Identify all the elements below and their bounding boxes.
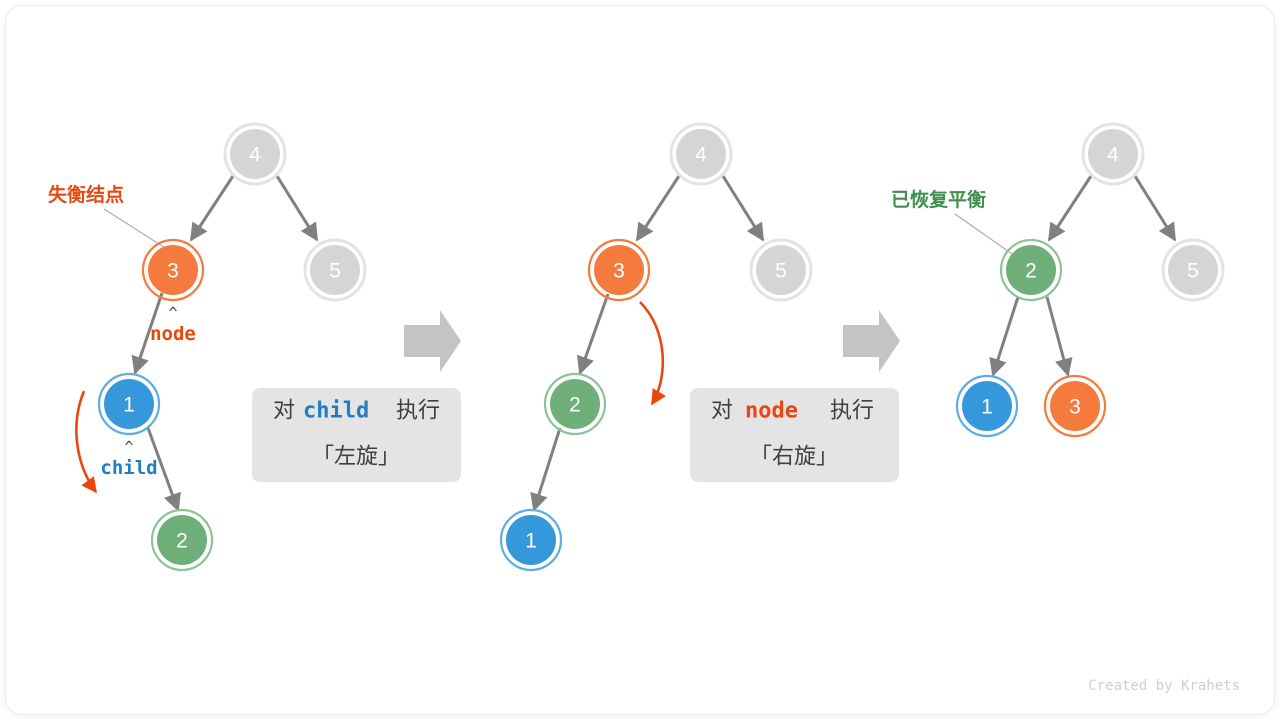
pointer-label-node: node xyxy=(150,323,196,345)
edge-4-5 xyxy=(277,176,317,240)
tree-node-label: 3 xyxy=(1069,396,1081,419)
tree-node-5[interactable]: 5 xyxy=(305,240,365,300)
tree-node-4[interactable]: 4 xyxy=(671,124,731,184)
edge-2-1 xyxy=(993,297,1018,375)
tree-node-label: 3 xyxy=(167,260,179,283)
tree-node-5[interactable]: 5 xyxy=(751,240,811,300)
step-box-line2: 「左旋」 xyxy=(312,445,400,470)
step-box-line1-suffix: 执行 xyxy=(830,399,874,424)
tree-node-label: 2 xyxy=(569,394,581,417)
edge-2-3 xyxy=(1047,297,1068,375)
step-box-line1-code: node xyxy=(745,399,798,424)
step-box-line1-prefix: 对 xyxy=(711,399,733,424)
tree-node-2[interactable]: 2 xyxy=(152,510,212,570)
step-box-right-rotate: 对 node 执行 「右旋」 xyxy=(690,388,899,482)
edge-4-5 xyxy=(1135,176,1175,240)
annotation-balanced: 已恢复平衡 xyxy=(891,188,986,211)
node-caret-icon: ^ xyxy=(168,304,177,322)
tree-node-2[interactable]: 2 xyxy=(545,374,605,434)
edge-4-5 xyxy=(723,176,763,240)
child-caret-icon: ^ xyxy=(124,438,133,456)
step-box-line2: 「右旋」 xyxy=(750,445,838,470)
panel-after-right-rotate: 4 2 5 1 3 已恢复平衡 xyxy=(891,124,1223,436)
tree-node-label: 1 xyxy=(525,530,537,553)
edge-4-3 xyxy=(637,176,679,240)
tree-node-label: 3 xyxy=(613,260,625,283)
tree-node-label: 5 xyxy=(775,260,787,283)
tree-node-3[interactable]: 3 xyxy=(589,240,649,300)
rotation-curve-arrow-2 xyxy=(640,302,663,404)
tree-node-3[interactable]: 3 xyxy=(143,240,203,300)
edge-3-2 xyxy=(580,294,608,373)
tree-node-2[interactable]: 2 xyxy=(1001,240,1061,300)
panel-before: 4 3 5 1 2 xyxy=(48,124,365,570)
edge-4-2 xyxy=(1049,176,1091,240)
tree-node-4[interactable]: 4 xyxy=(1083,124,1143,184)
tree-node-label: 4 xyxy=(249,144,261,167)
step-box-left-rotate: 对 child 执行 「左旋」 xyxy=(252,388,461,482)
edge-4-3 xyxy=(191,176,233,240)
tree-node-1[interactable]: 1 xyxy=(99,374,159,434)
tree-node-1[interactable]: 1 xyxy=(501,510,561,570)
step-box-line1-suffix: 执行 xyxy=(396,399,440,424)
tree-node-label: 4 xyxy=(695,144,707,167)
tree-node-4[interactable]: 4 xyxy=(225,124,285,184)
diagram-canvas: 4 3 5 1 2 xyxy=(0,0,1280,720)
step-box-line1-code: child xyxy=(303,399,369,424)
tree-node-label: 1 xyxy=(981,396,993,419)
tree-node-label: 5 xyxy=(1187,260,1199,283)
edge-2-1 xyxy=(534,428,560,510)
block-arrow-right-icon xyxy=(404,310,461,372)
leader-line-balanced xyxy=(955,214,1015,256)
tree-node-label: 4 xyxy=(1107,144,1119,167)
block-arrow-right-icon xyxy=(843,310,900,372)
tree-node-label: 2 xyxy=(176,530,188,553)
panel-after-left-rotate: 4 3 5 2 1 xyxy=(501,124,811,570)
annotation-unbalanced-node: 失衡结点 xyxy=(48,183,124,206)
tree-node-1[interactable]: 1 xyxy=(957,376,1017,436)
tree-node-label: 1 xyxy=(123,394,135,417)
watermark-credit: Created by Krahets xyxy=(1088,678,1240,694)
tree-node-label: 5 xyxy=(329,260,341,283)
transition-arrow-2 xyxy=(843,310,900,372)
tree-node-5[interactable]: 5 xyxy=(1163,240,1223,300)
transition-arrow-1 xyxy=(404,310,461,372)
step-box-line1-prefix: 对 xyxy=(273,399,295,424)
avl-rotation-diagram: 4 3 5 1 2 xyxy=(0,0,1280,720)
tree-node-label: 2 xyxy=(1025,260,1037,283)
tree-node-3[interactable]: 3 xyxy=(1045,376,1105,436)
rotation-curve-arrow-1 xyxy=(76,391,96,492)
pointer-label-child: child xyxy=(100,457,157,479)
